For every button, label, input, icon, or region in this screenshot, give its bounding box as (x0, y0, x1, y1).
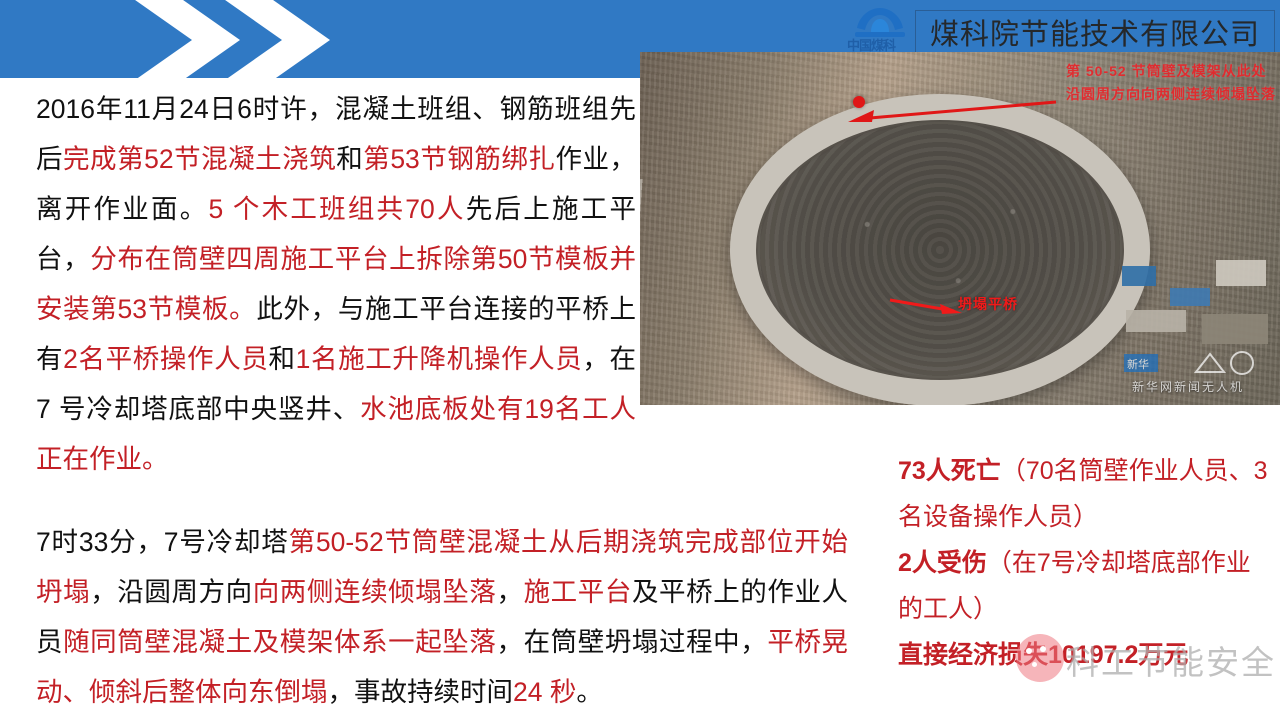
stat-headline-1: 2人受伤 (898, 549, 987, 577)
logo-wordmark: 中国煤科 (847, 39, 915, 53)
stat-line-1: 2人受伤（在7号冷却塔底部作业的工人） (898, 540, 1270, 632)
photo-annotation-mid: 坍塌平桥 (958, 294, 1018, 314)
annotation-arrow-mid-icon (888, 298, 964, 316)
stat-headline-0: 73人死亡 (898, 457, 1001, 485)
casualty-stats-panel: 73人死亡（70名筒壁作业人员、3名设备操作人员）2人受伤（在7号冷却塔底部作业… (898, 448, 1270, 678)
stat-line-0: 73人死亡（70名筒壁作业人员、3名设备操作人员） (898, 448, 1270, 540)
text-run-12: 。 (576, 677, 603, 707)
text-run-5: 施工平台 (524, 577, 632, 607)
company-name: 煤科院节能技术有限公司 (930, 11, 1260, 53)
slide-root: 中国煤科 煤科院节能技术有限公司 第 50-52 节筒壁及模架从此处沿圆周方向向… (0, 0, 1280, 720)
text-run-3: 第53节钢筋绑扎 (363, 144, 555, 174)
company-name-box: 煤科院节能技术有限公司 (915, 10, 1275, 54)
photo-watermark-text: 新华网新闻无人机 (1096, 372, 1280, 402)
stat-line-2: 直接经济损失10197.2万元 (898, 632, 1270, 678)
text-run-2: 和 (336, 144, 363, 174)
text-run-10: ，事故持续时间 (328, 677, 514, 707)
text-run-7: 随同筒壁混凝土及模架体系一起坠落 (63, 627, 496, 657)
svg-text:新华: 新华 (1127, 357, 1149, 371)
stat-headline-2: 直接经济损失10197.2万元 (898, 641, 1188, 669)
coal-group-logo-icon (849, 6, 911, 40)
text-run-8: ，在筒壁坍塌过程中， (496, 627, 767, 657)
brand-logo: 中国煤科 (849, 6, 911, 58)
photo-annotation-top: 第 50-52 节筒壁及模架从此处沿圆周方向向两侧连续倾塌坠落 (1066, 60, 1278, 106)
text-run-5: 5 个木工班组共70人 (208, 194, 465, 224)
text-run-1: 完成第52节混凝土浇筑 (63, 144, 336, 174)
text-run-9: 2名平桥操作人员 (63, 344, 268, 374)
text-run-4: ， (497, 577, 524, 607)
text-run-11: 1名施工升降机操作人员 (296, 344, 583, 374)
text-run-0: 7时33分，7号冷却塔 (36, 527, 289, 557)
text-run-11: 24 秒 (513, 677, 576, 707)
aerial-photo: 第 50-52 节筒壁及模架从此处沿圆周方向向两侧连续倾塌坠落 坍塌平桥 新华 … (640, 52, 1280, 405)
text-run-10: 和 (268, 344, 295, 374)
paragraph-collapse-sequence: 7时33分，7号冷却塔第50-52节筒壁混凝土从后期浇筑完成部位开始坍塌，沿圆周… (36, 517, 848, 717)
paragraph-incident-timeline: 2016年11月24日6时许，混凝土班组、钢筋班组先后完成第52节混凝土浇筑和第… (36, 84, 636, 484)
text-run-2: ，沿圆周方向 (90, 577, 253, 607)
cooling-tower-debris (758, 122, 1122, 378)
text-run-3: 向两侧连续倾塌坠落 (253, 577, 497, 607)
annotation-marker-dot (853, 96, 865, 108)
